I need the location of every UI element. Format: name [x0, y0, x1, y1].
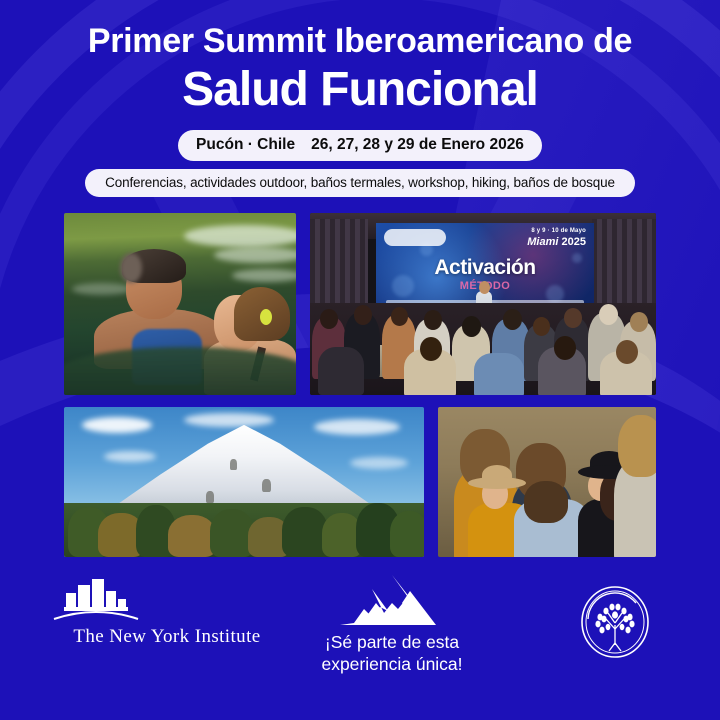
- page-title: Salud Funcional: [0, 63, 720, 117]
- call-to-action-block: ¡Sé parte de esta experiencia única!: [272, 573, 512, 676]
- activities-badge: Conferencias, actividades outdoor, baños…: [85, 169, 635, 197]
- mountain-icon: [332, 573, 452, 627]
- city-skyline-icon: [52, 577, 140, 621]
- water-rapid: [214, 247, 296, 263]
- photo-grid: 8 y 9 · 10 de Mayo Miami 2025 Activación…: [64, 213, 656, 557]
- photo-grid-row-2: [64, 407, 656, 557]
- photo-volcano: [64, 407, 424, 557]
- poster-header: Primer Summit Iberoamericano de Salud Fu…: [0, 0, 720, 197]
- description-pill-row: Conferencias, actividades outdoor, baños…: [0, 169, 720, 197]
- screen-date: 8 y 9 · 10 de Mayo: [531, 228, 586, 234]
- poster-footer: The New York Institute ¡Sé parte de esta…: [0, 571, 720, 697]
- screen-logo: [384, 229, 446, 246]
- institute-name: The New York Institute: [52, 626, 282, 648]
- water-rapid: [72, 283, 132, 295]
- girl-hair-clip: [260, 309, 272, 325]
- photo-thermal-bath: [64, 213, 296, 395]
- event-dates: 26, 27, 28 y 29 de Enero 2026: [311, 136, 524, 154]
- date-pill-row: Pucón · Chile 26, 27, 28 y 29 de Enero 2…: [0, 130, 720, 161]
- screen-title: Activación: [376, 256, 594, 280]
- cta-line-2: experiencia única!: [272, 653, 512, 675]
- water-rapid: [232, 269, 296, 282]
- screen-city: Miami 2025: [527, 236, 586, 248]
- event-location: Pucón · Chile: [196, 136, 295, 154]
- institute-block: The New York Institute: [52, 577, 282, 648]
- cta-line-1: ¡Sé parte de esta: [272, 631, 512, 653]
- speaker-head: [479, 281, 490, 294]
- photo-conference: 8 y 9 · 10 de Mayo Miami 2025 Activación…: [310, 213, 656, 395]
- seal-block: [566, 585, 664, 659]
- event-info-badge: Pucón · Chile 26, 27, 28 y 29 de Enero 2…: [178, 130, 542, 161]
- water-foreground: [64, 347, 296, 395]
- screen-year-text: 2025: [562, 236, 586, 248]
- photo-grid-row-1: 8 y 9 · 10 de Mayo Miami 2025 Activación…: [64, 213, 656, 395]
- water-rapid: [184, 225, 296, 247]
- photo-group: [438, 407, 656, 557]
- poster-root: Primer Summit Iberoamericano de Salud Fu…: [0, 0, 720, 720]
- screen-city-text: Miami: [527, 236, 558, 248]
- man-hair-highlight: [120, 253, 142, 283]
- title-line-1: Primer Summit Iberoamericano de: [0, 22, 720, 61]
- tree-seal-icon: [578, 585, 652, 659]
